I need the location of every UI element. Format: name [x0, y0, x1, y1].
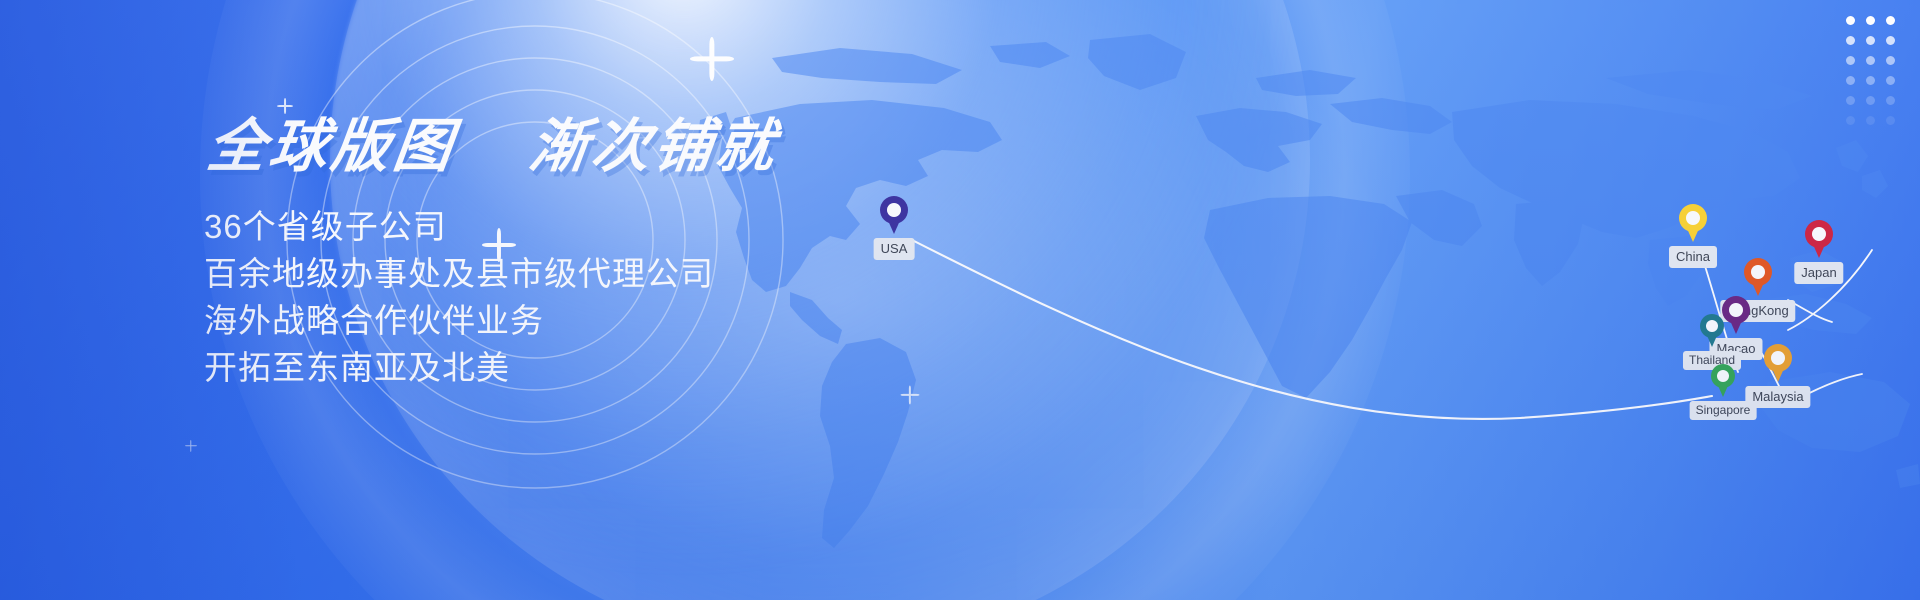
map-pin-japan[interactable]: Japan [1805, 220, 1833, 258]
map-pin-icon [1744, 258, 1772, 296]
map-pin-thailand[interactable]: Thailand [1700, 314, 1724, 347]
headline-part-2: 渐次铺就 [526, 114, 782, 179]
map-pin-singapore[interactable]: Singapore [1711, 364, 1735, 397]
map-pin-china[interactable]: China [1679, 204, 1707, 242]
list-item: 百余地级办事处及县市级代理公司 [204, 251, 774, 298]
sparkle-icon [185, 440, 197, 452]
map-pin-label: USA [874, 238, 915, 260]
map-pin-icon [880, 196, 908, 234]
map-pin-hongkong[interactable]: HongKong [1744, 258, 1772, 296]
map-pin-icon [1722, 296, 1750, 334]
map-pin-usa[interactable]: USA [880, 196, 908, 234]
dot-grid-icon [1840, 10, 1900, 130]
map-pin-label: Japan [1794, 262, 1843, 284]
sparkle-icon [900, 385, 919, 404]
global-map-banner: 全球版图 渐次铺就 36个省级子公司 百余地级办事处及县市级代理公司 海外战略合… [0, 0, 1920, 600]
banner-text-block: 全球版图 渐次铺就 36个省级子公司 百余地级办事处及县市级代理公司 海外战略合… [204, 118, 774, 391]
sparkle-icon [690, 37, 734, 81]
map-pin-icon [1711, 364, 1735, 397]
map-pin-label: China [1669, 246, 1717, 268]
map-pin-macao[interactable]: Macao [1722, 296, 1750, 334]
page-title: 全球版图 渐次铺就 [204, 118, 781, 176]
sparkle-icon [277, 98, 293, 114]
list-item: 36个省级子公司 [204, 204, 774, 251]
highlight-list: 36个省级子公司 百余地级办事处及县市级代理公司 海外战略合作伙伴业务 开拓至东… [204, 204, 774, 391]
map-pin-icon [1805, 220, 1833, 258]
list-item: 开拓至东南亚及北美 [204, 345, 774, 392]
headline-part-1: 全球版图 [204, 114, 460, 179]
map-pin-malaysia[interactable]: Malaysia [1764, 344, 1792, 382]
map-pin-label: Singapore [1690, 401, 1757, 420]
map-pin-icon [1764, 344, 1792, 382]
map-pin-icon [1679, 204, 1707, 242]
map-pin-icon [1700, 314, 1724, 347]
list-item: 海外战略合作伙伴业务 [204, 298, 774, 345]
